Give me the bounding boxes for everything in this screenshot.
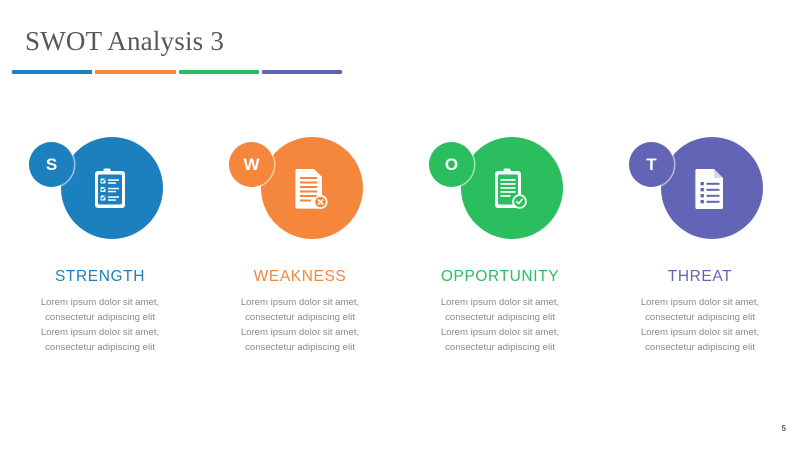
strength-graphic[interactable]: S <box>25 128 175 246</box>
weakness-heading: WEAKNESS <box>254 268 347 286</box>
document-list-icon <box>687 161 735 216</box>
accent-bar-segment-strength <box>12 70 92 74</box>
opportunity-heading: OPPORTUNITY <box>441 268 559 286</box>
accent-bar-segment-threat <box>262 70 342 74</box>
threat-body: Lorem ipsum dolor sit amet, consectetur … <box>614 295 786 355</box>
swot-columns: S <box>0 128 800 355</box>
body-line: Lorem ipsum dolor sit amet, <box>14 325 186 340</box>
weakness-graphic[interactable]: W <box>225 128 375 246</box>
document-x-icon <box>287 161 335 216</box>
body-line: Lorem ipsum dolor sit amet, <box>614 325 786 340</box>
body-line: Lorem ipsum dolor sit amet, <box>214 325 386 340</box>
clipboard-checklist-icon <box>87 161 135 216</box>
weakness-letter-badge: W <box>229 142 274 187</box>
swot-column-opportunity[interactable]: O OP <box>400 128 600 355</box>
body-line: Lorem ipsum dolor sit amet, <box>14 295 186 310</box>
strength-body: Lorem ipsum dolor sit amet, consectetur … <box>14 295 186 355</box>
body-line: consectetur adipiscing elit <box>414 310 586 325</box>
body-line: Lorem ipsum dolor sit amet, <box>414 325 586 340</box>
body-line: consectetur adipiscing elit <box>14 340 186 355</box>
swot-column-threat[interactable]: T THREAT <box>600 128 800 355</box>
threat-letter-badge: T <box>629 142 674 187</box>
body-line: consectetur adipiscing elit <box>14 310 186 325</box>
body-line: consectetur adipiscing elit <box>614 340 786 355</box>
body-line: consectetur adipiscing elit <box>214 340 386 355</box>
body-line: consectetur adipiscing elit <box>214 310 386 325</box>
body-line: consectetur adipiscing elit <box>414 340 586 355</box>
accent-bar <box>12 70 342 74</box>
swot-column-strength[interactable]: S <box>0 128 200 355</box>
clipboard-check-icon <box>487 161 535 216</box>
opportunity-letter-badge: O <box>429 142 474 187</box>
opportunity-body: Lorem ipsum dolor sit amet, consectetur … <box>414 295 586 355</box>
swot-slide: SWOT Analysis 3 S <box>0 0 800 450</box>
body-line: Lorem ipsum dolor sit amet, <box>414 295 586 310</box>
opportunity-graphic[interactable]: O <box>425 128 575 246</box>
strength-letter-badge: S <box>29 142 74 187</box>
page-number: 5 <box>782 424 786 433</box>
swot-column-weakness[interactable]: W WEAKNESS <box>200 128 400 355</box>
strength-heading: STRENGTH <box>55 268 145 286</box>
body-line: Lorem ipsum dolor sit amet, <box>214 295 386 310</box>
accent-bar-segment-opportunity <box>179 70 259 74</box>
page-title: SWOT Analysis 3 <box>25 26 224 57</box>
accent-bar-segment-weakness <box>95 70 175 74</box>
body-line: consectetur adipiscing elit <box>614 310 786 325</box>
threat-heading: THREAT <box>668 268 732 286</box>
weakness-body: Lorem ipsum dolor sit amet, consectetur … <box>214 295 386 355</box>
threat-graphic[interactable]: T <box>625 128 775 246</box>
body-line: Lorem ipsum dolor sit amet, <box>614 295 786 310</box>
